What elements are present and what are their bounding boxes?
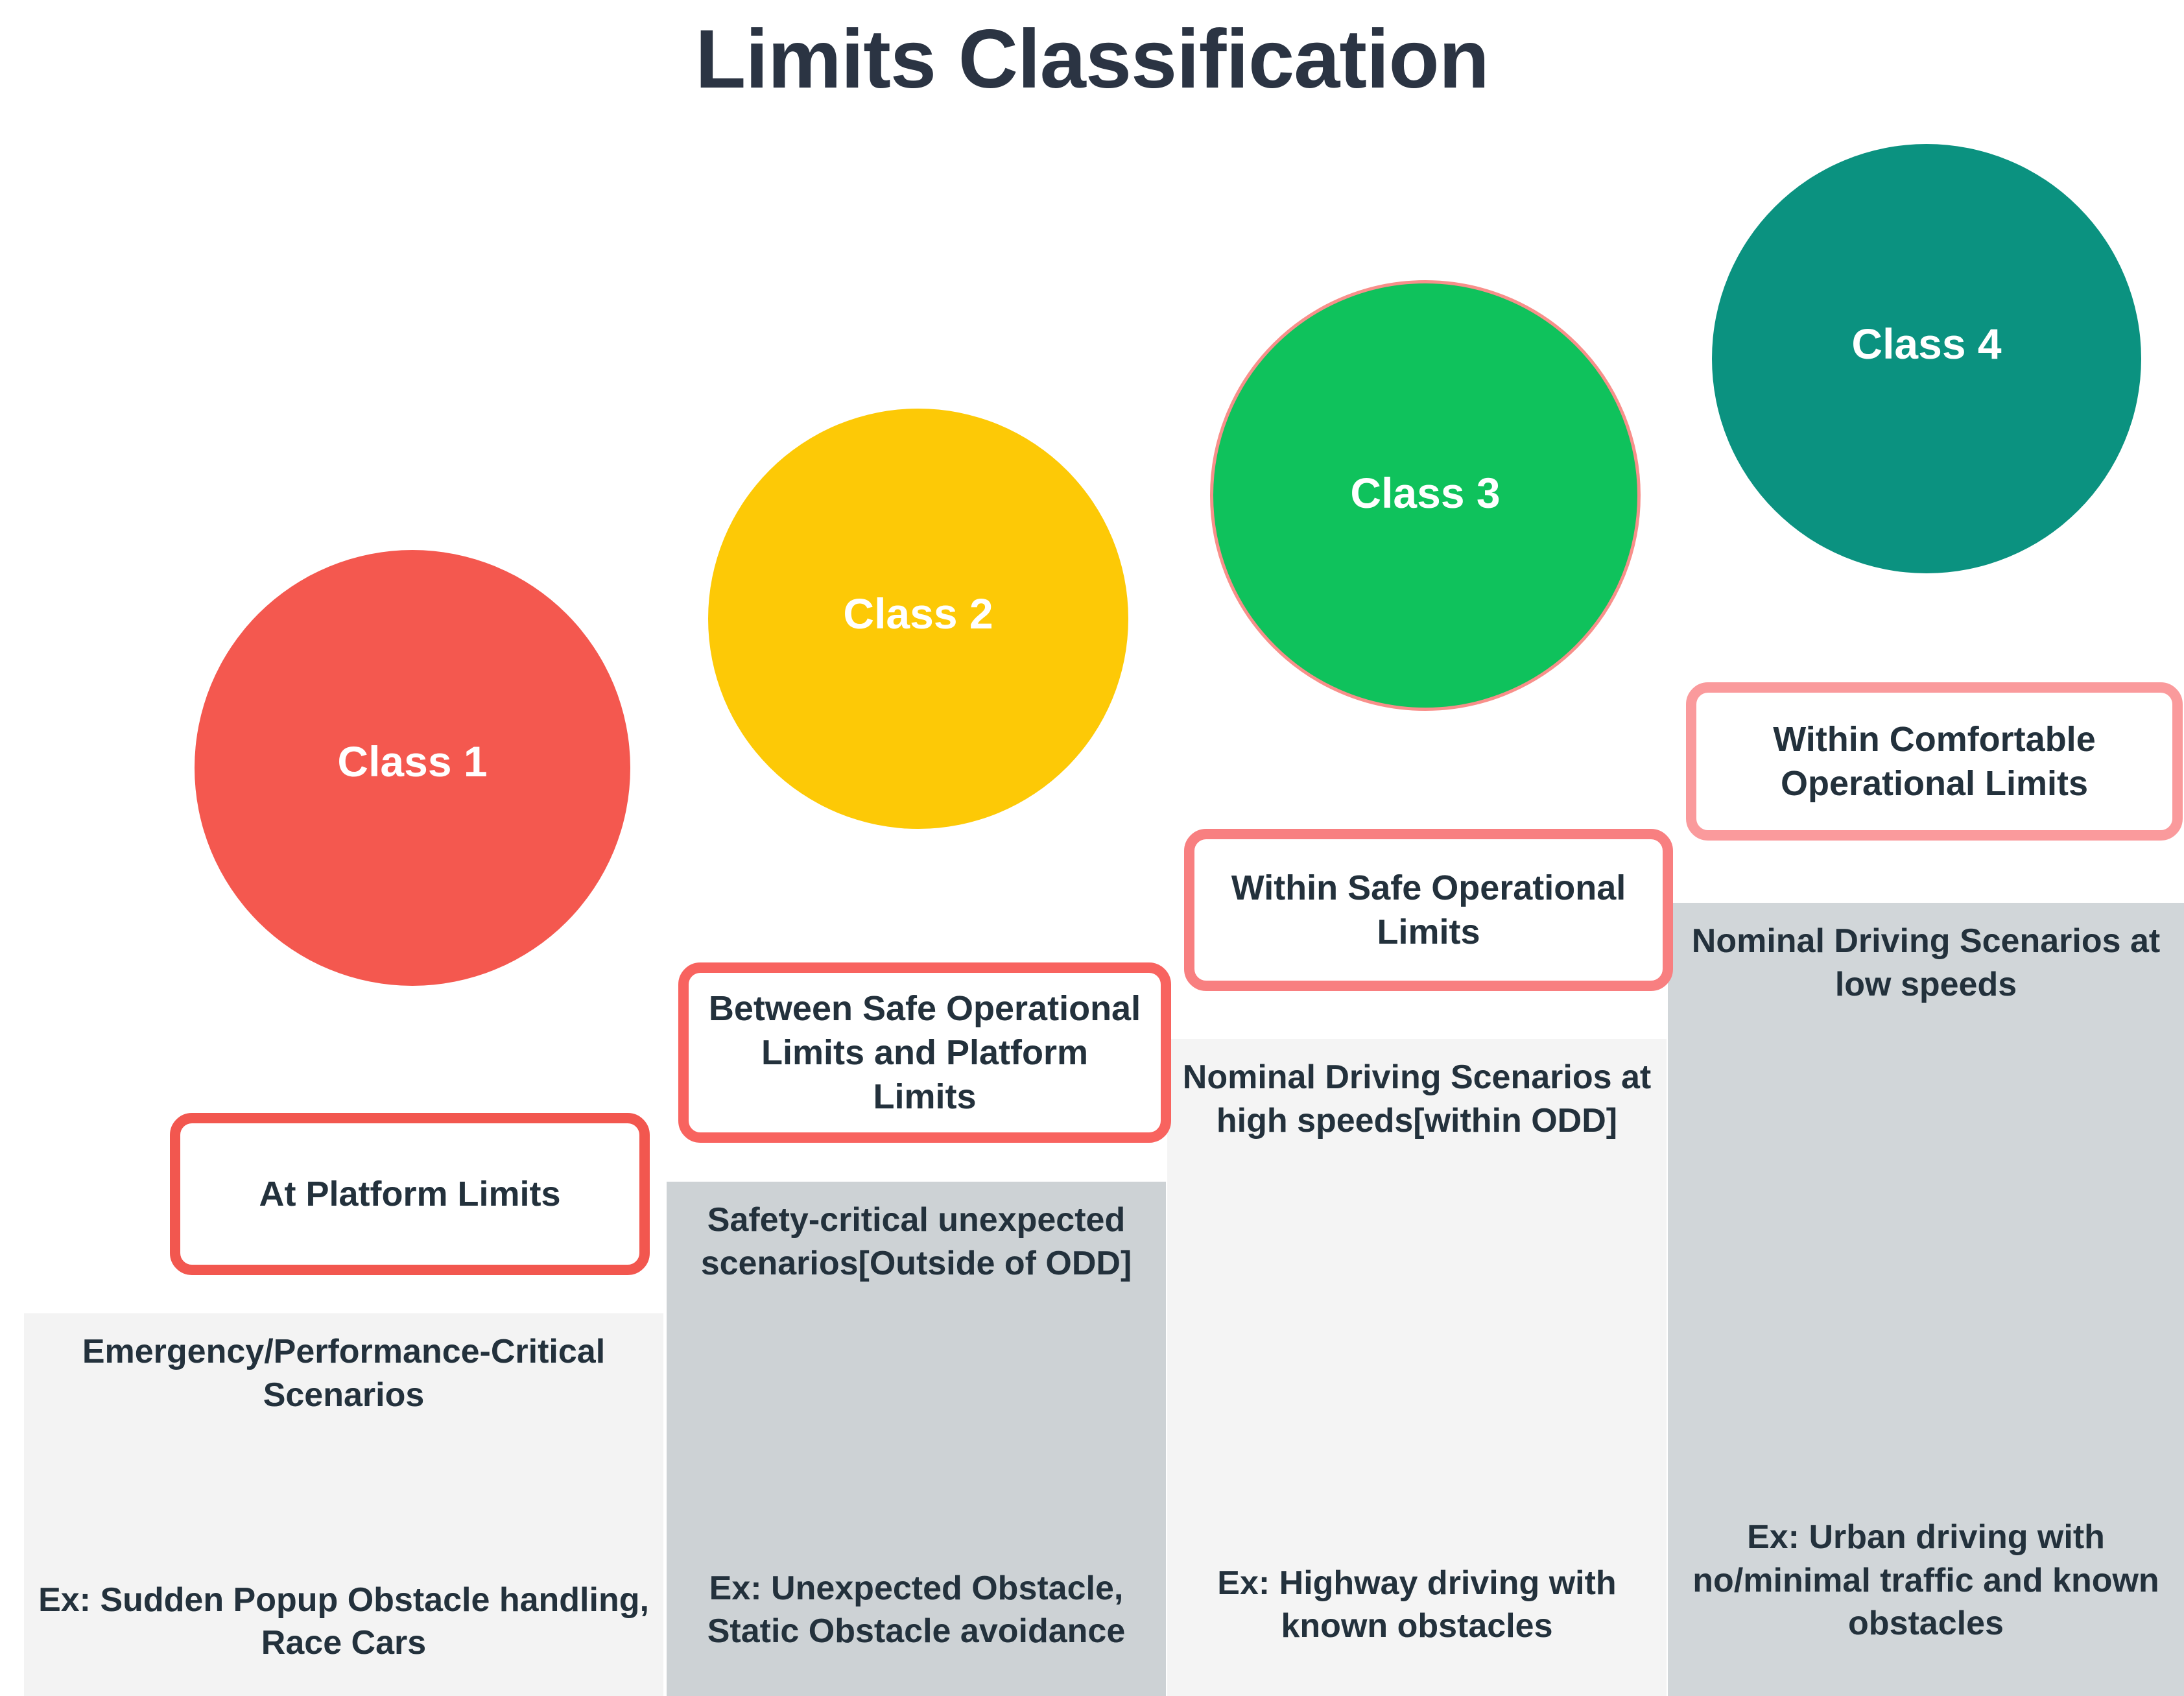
class-circle-label: Class 1 bbox=[195, 737, 630, 786]
example-text: Ex: Sudden Popup Obstacle handling, Race… bbox=[36, 1579, 652, 1679]
limit-label-text: Within Comfortable Operational Limits bbox=[1713, 717, 2155, 806]
class-circle-2: Class 2 bbox=[708, 409, 1128, 829]
example-text: Ex: Unexpected Obstacle, Static Obstacle… bbox=[678, 1567, 1154, 1679]
scenario-column-class-3: Nominal Driving Scenarios at high speeds… bbox=[1167, 1039, 1667, 1696]
limits-classification-diagram: Limits Classification Emergency/Performa… bbox=[0, 0, 2184, 1696]
scenario-column-class-4: Nominal Driving Scenarios at low speeds … bbox=[1668, 903, 2184, 1696]
class-circle-4: Class 4 bbox=[1712, 144, 2141, 573]
limit-label-text: At Platform Limits bbox=[259, 1172, 560, 1216]
column-spacer bbox=[36, 1416, 652, 1579]
class-circle-label: Class 3 bbox=[1213, 468, 1637, 518]
class-circle-3: Class 3 bbox=[1210, 280, 1641, 711]
limit-label-text: Between Safe Operational Limits and Plat… bbox=[706, 986, 1144, 1119]
page-title: Limits Classification bbox=[0, 12, 2184, 107]
example-text: Ex: Urban driving with no/minimal traffi… bbox=[1680, 1516, 2172, 1679]
column-spacer bbox=[1680, 1006, 2172, 1516]
limit-label-box-class-1: At Platform Limits bbox=[170, 1113, 650, 1275]
class-circle-label: Class 4 bbox=[1712, 319, 2141, 368]
limit-label-box-class-4: Within Comfortable Operational Limits bbox=[1686, 682, 2183, 841]
class-circle-label: Class 2 bbox=[708, 589, 1128, 638]
limit-label-box-class-3: Within Safe Operational Limits bbox=[1184, 829, 1673, 991]
limit-label-box-class-2: Between Safe Operational Limits and Plat… bbox=[678, 962, 1171, 1143]
column-spacer bbox=[1179, 1142, 1655, 1562]
scenario-text: Safety-critical unexpected scenarios[Out… bbox=[678, 1199, 1154, 1285]
example-text: Ex: Highway driving with known obstacles bbox=[1179, 1562, 1655, 1679]
class-circle-1: Class 1 bbox=[195, 550, 630, 986]
scenario-column-class-1: Emergency/Performance-Critical Scenarios… bbox=[24, 1313, 663, 1696]
scenario-text: Nominal Driving Scenarios at low speeds bbox=[1680, 920, 2172, 1006]
column-spacer bbox=[678, 1285, 1154, 1567]
scenario-column-class-2: Safety-critical unexpected scenarios[Out… bbox=[667, 1182, 1166, 1696]
scenario-text: Nominal Driving Scenarios at high speeds… bbox=[1179, 1056, 1655, 1142]
limit-label-text: Within Safe Operational Limits bbox=[1211, 866, 1646, 954]
scenario-text: Emergency/Performance-Critical Scenarios bbox=[36, 1330, 652, 1416]
